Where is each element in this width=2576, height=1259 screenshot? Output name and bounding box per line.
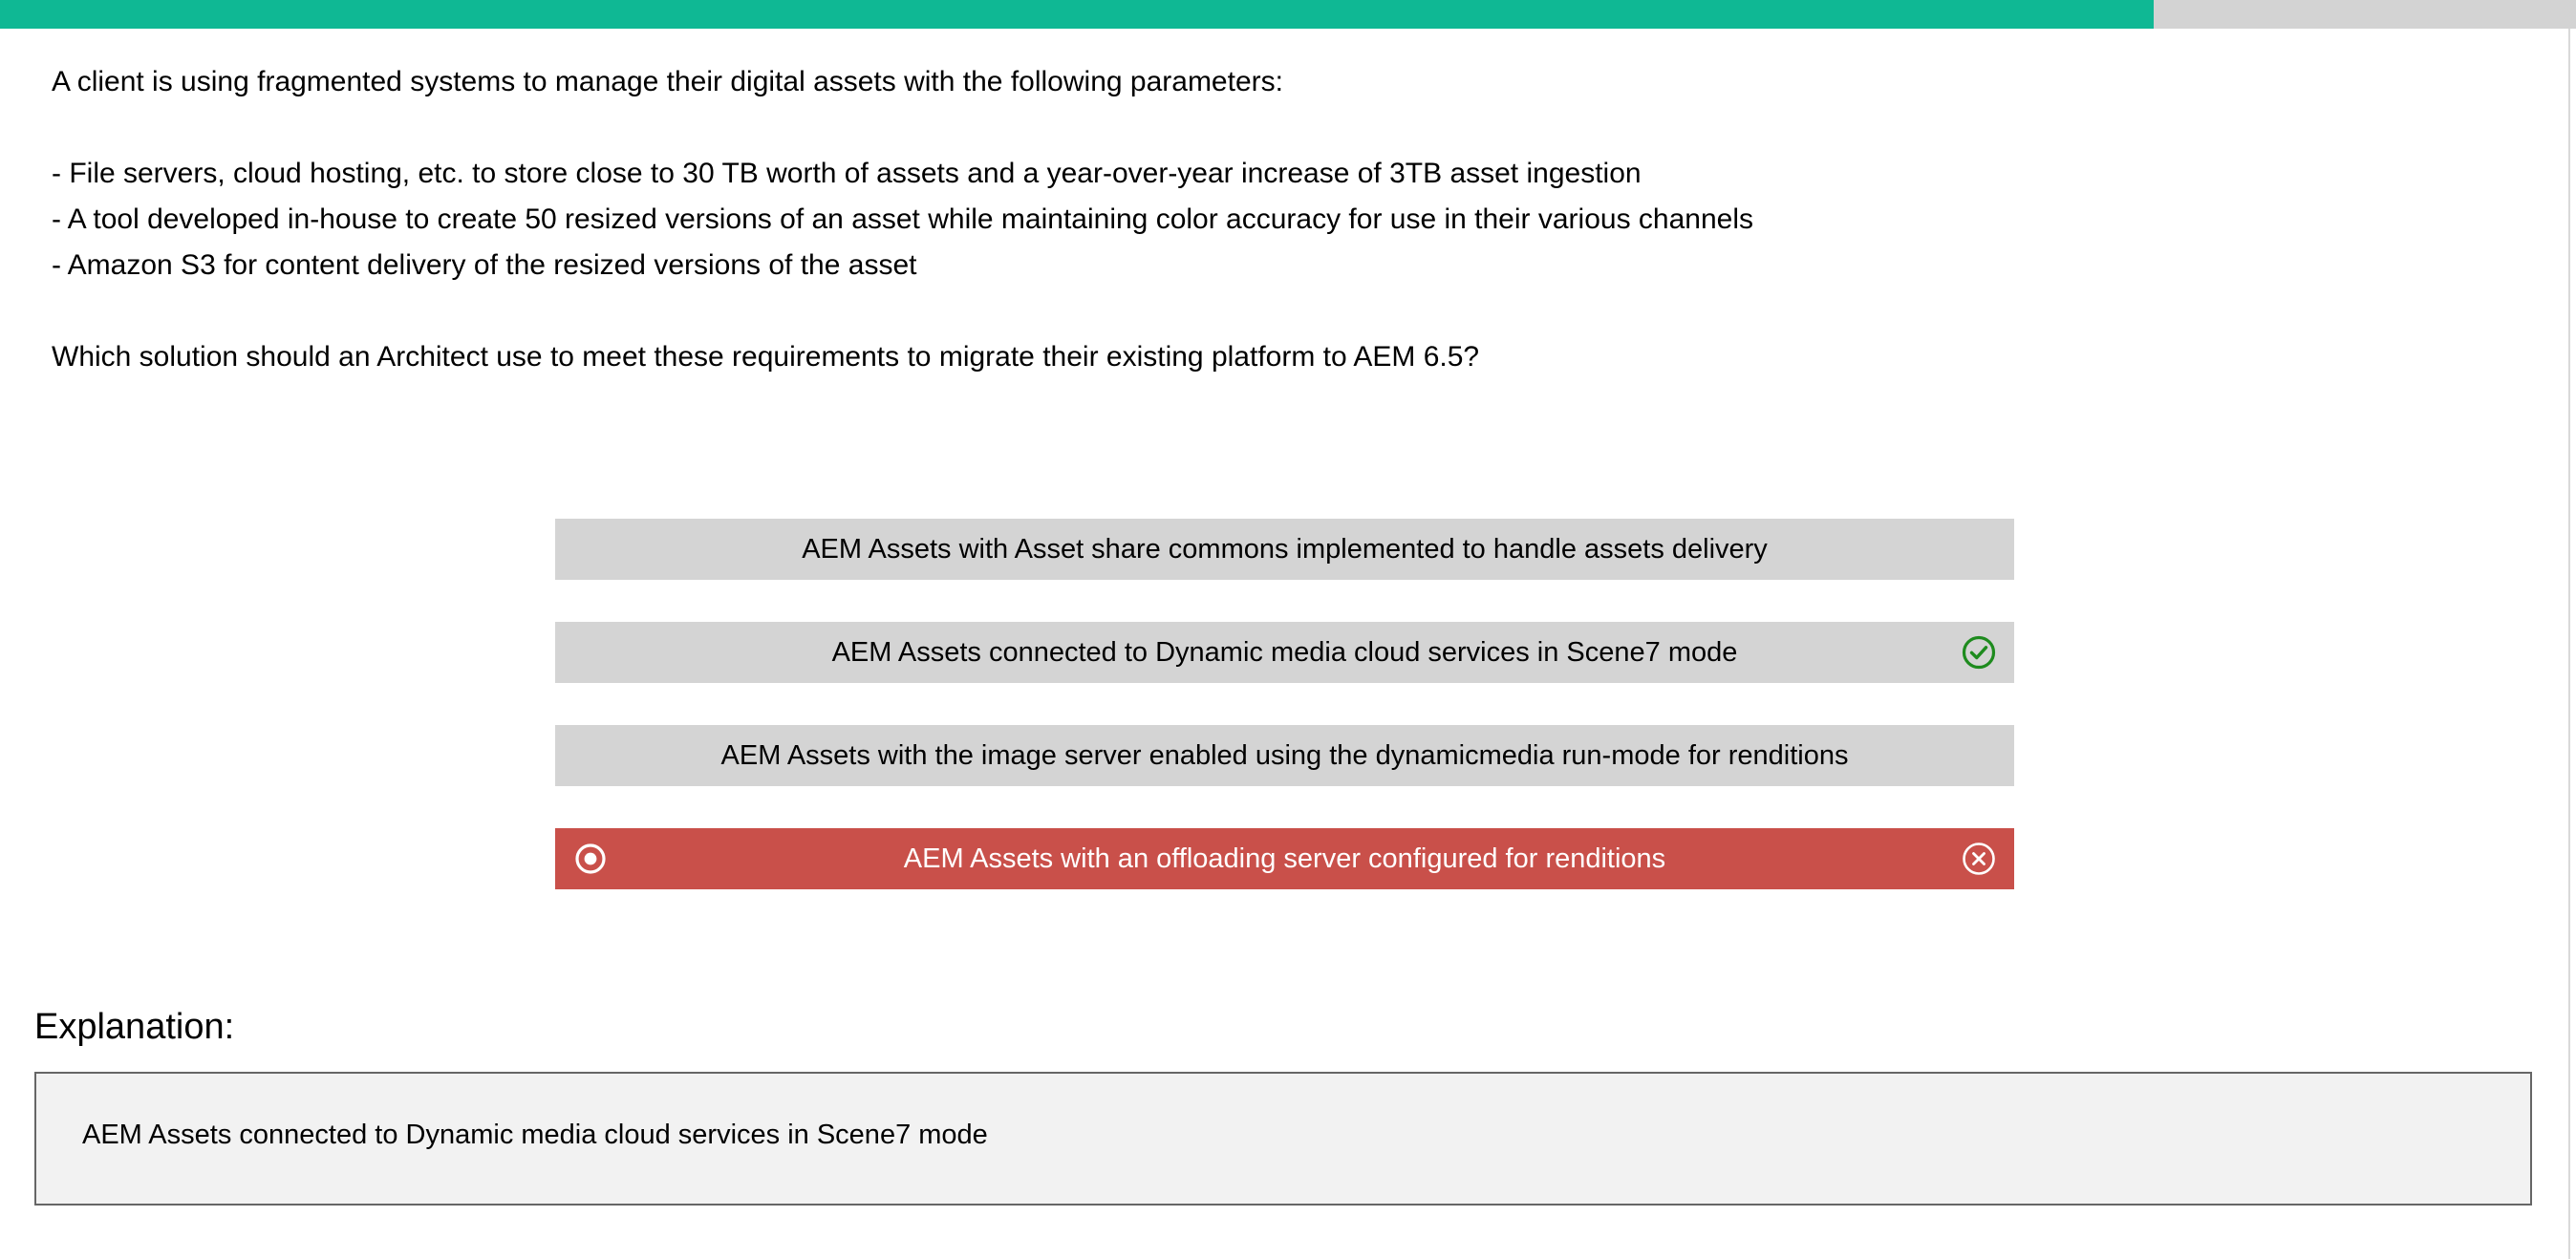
answer-option-3[interactable]: AEM Assets with the image server enabled… (555, 725, 2014, 786)
answer-option-2-label: AEM Assets connected to Dynamic media cl… (832, 637, 1738, 669)
question-body: A client is using fragmented systems to … (52, 59, 2249, 380)
quiz-progress-fill (0, 0, 2154, 29)
answer-option-4-label: AEM Assets with an offloading server con… (904, 843, 1665, 875)
question-prompt: Which solution should an Architect use t… (52, 334, 2249, 380)
answer-option-1[interactable]: AEM Assets with Asset share commons impl… (555, 519, 2014, 580)
question-spacer-2 (52, 288, 2249, 334)
question-spacer (52, 105, 2249, 151)
answer-option-1-label: AEM Assets with Asset share commons impl… (802, 534, 1768, 565)
answer-option-3-label: AEM Assets with the image server enabled… (721, 740, 1849, 772)
answer-options-list: AEM Assets with Asset share commons impl… (555, 519, 2014, 889)
answer-option-4[interactable]: AEM Assets with an offloading server con… (555, 828, 2014, 889)
explanation-heading: Explanation: (34, 1007, 234, 1048)
question-bullet-1: - File servers, cloud hosting, etc. to s… (52, 151, 2249, 197)
question-bullet-2: - A tool developed in-house to create 50… (52, 197, 2249, 243)
question-intro: A client is using fragmented systems to … (52, 59, 2249, 105)
quiz-progress-track (0, 0, 2576, 29)
explanation-text: AEM Assets connected to Dynamic media cl… (82, 1120, 988, 1151)
x-circle-icon (1961, 841, 1997, 877)
check-circle-icon (1961, 634, 1997, 671)
quiz-page: A client is using fragmented systems to … (0, 0, 2576, 1259)
radio-selected-icon[interactable] (572, 841, 609, 877)
question-bullet-3: - Amazon S3 for content delivery of the … (52, 243, 2249, 288)
answer-option-2[interactable]: AEM Assets connected to Dynamic media cl… (555, 622, 2014, 683)
page-right-rule (2568, 29, 2570, 1259)
explanation-box: AEM Assets connected to Dynamic media cl… (34, 1072, 2532, 1206)
